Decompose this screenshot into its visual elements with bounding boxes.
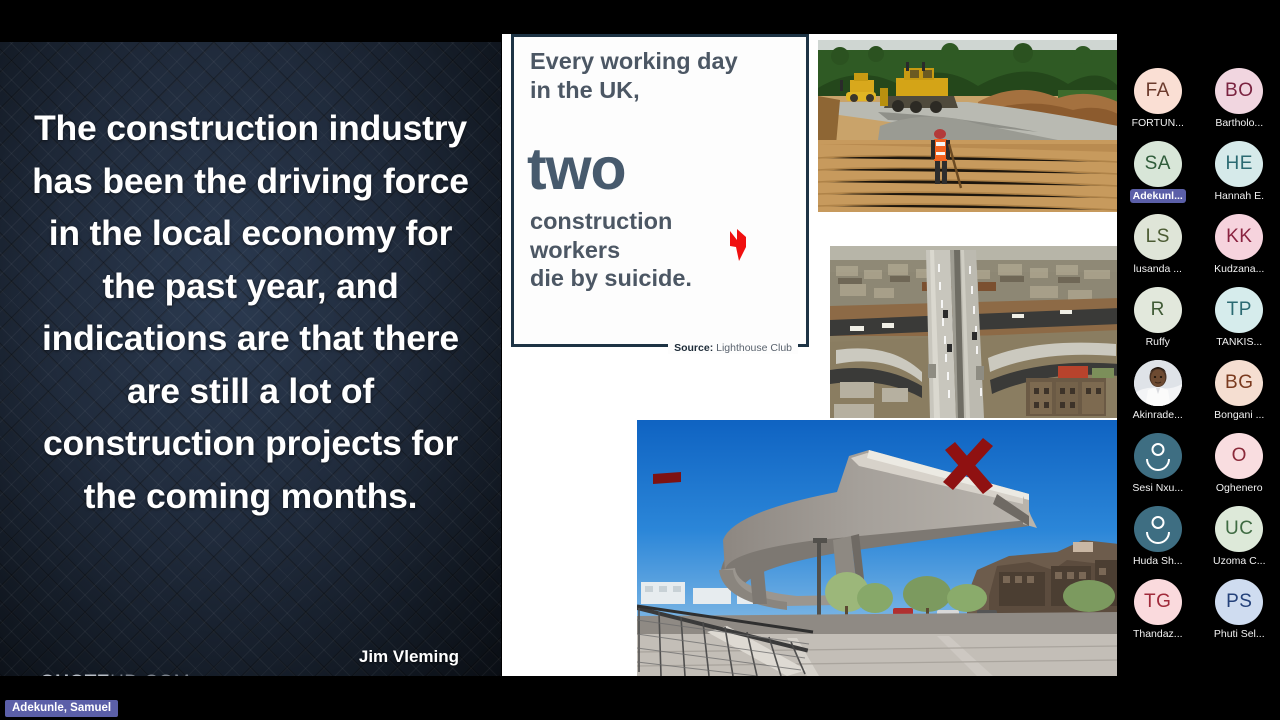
- presentation-slide: Every working day in the UK, two constru…: [502, 34, 1117, 676]
- participant-name: Bartholo...: [1212, 116, 1266, 130]
- shared-screen-stage[interactable]: The construction industry has been the d…: [0, 0, 1117, 720]
- infographic-line-5: die by suicide.: [530, 264, 798, 293]
- participant-name: Oghenero: [1213, 481, 1266, 495]
- participant-name: Thandaz...: [1130, 627, 1186, 641]
- source-name: Lighthouse Club: [716, 342, 792, 354]
- video-conference-window: The construction industry has been the d…: [0, 0, 1280, 720]
- quotehd-watermark: QUOTEHD.COM: [40, 672, 190, 676]
- participant-name: Sesi Nxu...: [1129, 481, 1186, 495]
- participant-tile[interactable]: BOBartholo...: [1199, 68, 1280, 130]
- participant-name: Phuti Sel...: [1211, 627, 1268, 641]
- suicide-statistic-infographic: Every working day in the UK, two constru…: [511, 34, 809, 347]
- participant-name: FORTUN...: [1129, 116, 1187, 130]
- red-dash-icon: [653, 472, 681, 484]
- person-icon: [1134, 433, 1182, 479]
- watermark-rest: HD.COM: [110, 672, 190, 676]
- participant-avatar-silhouette: [1134, 433, 1182, 479]
- participant-tile[interactable]: TPTANKIS...: [1199, 287, 1280, 349]
- infographic-source: Source: Lighthouse Club: [668, 342, 798, 354]
- source-label: Source:: [674, 342, 713, 354]
- infographic-line-1: Every working day: [530, 47, 796, 76]
- participant-name: Bongani ...: [1211, 408, 1267, 422]
- participant-tile[interactable]: Akinrade...: [1117, 360, 1199, 422]
- infographic-heading: Every working day in the UK,: [530, 47, 796, 104]
- participant-name: Adekunl...: [1130, 189, 1186, 203]
- participant-name: Huda Sh...: [1130, 554, 1186, 568]
- participant-tile[interactable]: OOghenero: [1199, 433, 1280, 495]
- participant-avatar-initials: BO: [1215, 68, 1263, 114]
- participant-name: Uzoma C...: [1210, 554, 1269, 568]
- participant-tile[interactable]: Huda Sh...: [1117, 506, 1199, 568]
- infographic-line-2: in the UK,: [530, 76, 796, 105]
- participant-tile[interactable]: RRuffy: [1117, 287, 1199, 349]
- self-name-label: Adekunle, Samuel: [5, 700, 118, 717]
- participant-name: Ruffy: [1143, 335, 1173, 349]
- participant-avatar-initials: O: [1215, 433, 1263, 479]
- infographic-big-number: two: [527, 145, 626, 193]
- quote-slide: The construction industry has been the d…: [0, 42, 501, 676]
- participant-name: Kudzana...: [1211, 262, 1267, 276]
- participant-name: lusanda ...: [1131, 262, 1185, 276]
- participant-avatar-initials: KK: [1215, 214, 1263, 260]
- participant-tile[interactable]: HEHannah E.: [1199, 141, 1280, 203]
- participant-avatar-silhouette: [1134, 506, 1182, 552]
- participant-tile[interactable]: SAAdekunl...: [1117, 141, 1199, 203]
- participant-tile[interactable]: FAFORTUN...: [1117, 68, 1199, 130]
- participant-avatar-initials: FA: [1134, 68, 1182, 114]
- participant-avatar-photo: [1134, 360, 1182, 406]
- participant-rail[interactable]: FAFORTUN...BOBartholo...SAAdekunl...HEHa…: [1117, 0, 1280, 720]
- participant-avatar-initials: SA: [1134, 141, 1182, 187]
- aerial-flyover-illustration: [830, 246, 1120, 418]
- quote-author: Jim Vleming: [359, 647, 459, 667]
- person-icon: [1134, 506, 1182, 552]
- road-construction-illustration: [818, 40, 1118, 212]
- participant-avatar-initials: UC: [1215, 506, 1263, 552]
- participant-avatar-initials: TG: [1134, 579, 1182, 625]
- participant-avatar-initials: TP: [1215, 287, 1263, 333]
- participant-avatar-initials: HE: [1215, 141, 1263, 187]
- abandoned-flyover-photo: [637, 420, 1119, 676]
- participant-tile[interactable]: BGBongani ...: [1199, 360, 1280, 422]
- participant-tile[interactable]: TGThandaz...: [1117, 579, 1199, 641]
- participant-name: Hannah E.: [1211, 189, 1267, 203]
- abandoned-flyover-illustration: [637, 420, 1119, 676]
- infographic-tail-text: construction workers die by suicide.: [530, 207, 798, 293]
- participant-tile[interactable]: UCUzoma C...: [1199, 506, 1280, 568]
- participant-tile[interactable]: Sesi Nxu...: [1117, 433, 1199, 495]
- infographic-line-3: construction: [530, 207, 798, 236]
- road-construction-photo: [818, 40, 1118, 212]
- participant-name: TANKIS...: [1213, 335, 1265, 349]
- participant-avatar-initials: PS: [1215, 579, 1263, 625]
- participant-avatar-initials: R: [1134, 287, 1182, 333]
- infographic-line-4: workers: [530, 236, 798, 265]
- participant-name: Akinrade...: [1130, 408, 1186, 422]
- participant-avatar-initials: BG: [1215, 360, 1263, 406]
- infographic-source-row: Source: Lighthouse Club: [514, 334, 806, 354]
- participant-tile[interactable]: LSlusanda ...: [1117, 214, 1199, 276]
- watermark-bold: QUOTE: [40, 672, 110, 676]
- red-arrow-icon: [727, 227, 749, 263]
- participant-tile[interactable]: KKKudzana...: [1199, 214, 1280, 276]
- participant-tile[interactable]: PSPhuti Sel...: [1199, 579, 1280, 641]
- participant-avatar-initials: LS: [1134, 214, 1182, 260]
- quote-text: The construction industry has been the d…: [22, 102, 479, 522]
- portrait-photo: [1134, 360, 1182, 406]
- aerial-flyover-photo: [830, 246, 1120, 418]
